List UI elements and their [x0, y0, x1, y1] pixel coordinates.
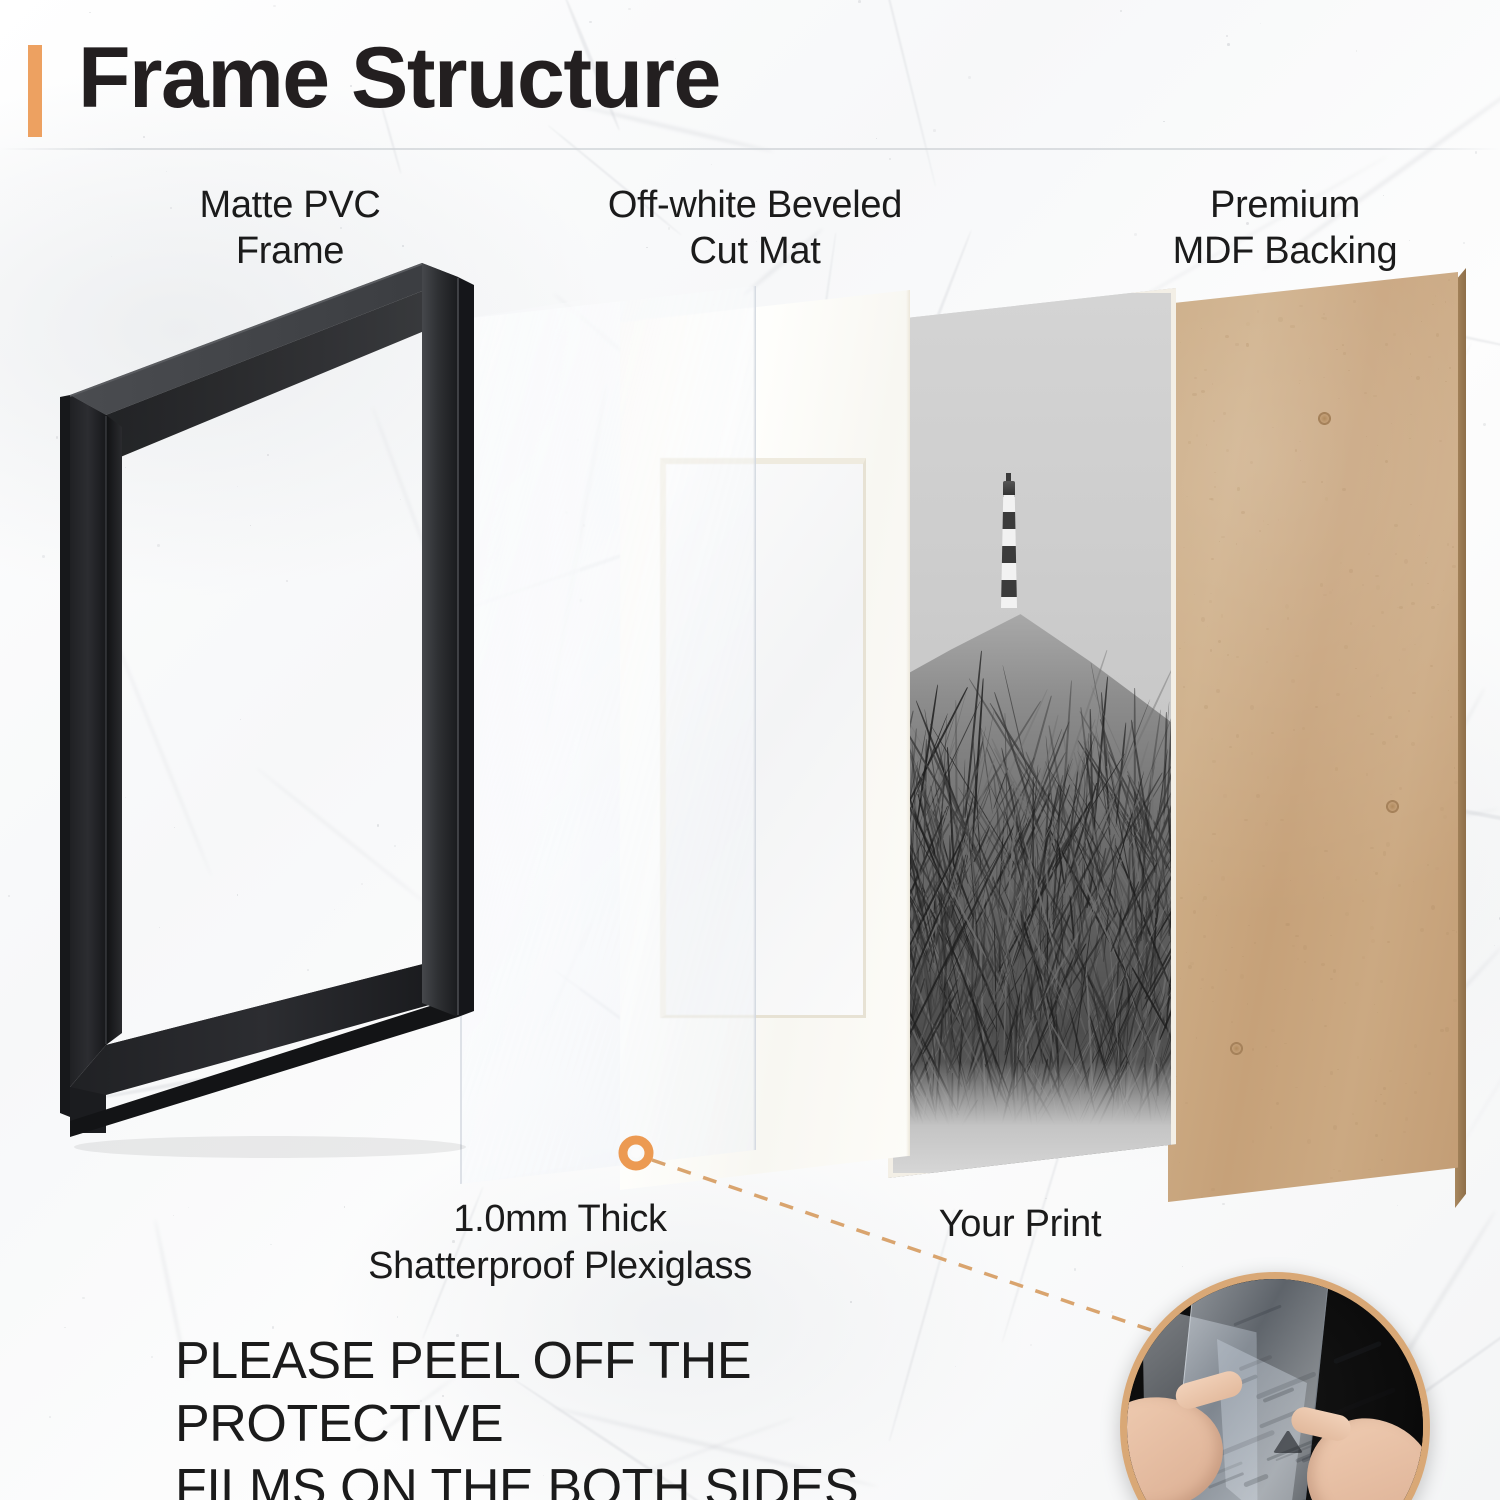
mdf-fleck	[1278, 1197, 1279, 1198]
mdf-fleck	[1445, 301, 1446, 303]
mdf-fleck	[1272, 427, 1273, 428]
mdf-fleck	[1278, 317, 1282, 322]
mdf-fleck	[1201, 328, 1202, 329]
mdf-fleck	[1399, 659, 1400, 661]
mdf-fleck	[1240, 974, 1244, 979]
mdf-fleck	[1377, 445, 1378, 446]
mdf-fleck	[1373, 871, 1374, 872]
peel-notice-prefix: FILMS ON THE	[175, 1459, 547, 1500]
mdf-fleck	[1242, 956, 1244, 957]
mdf-fleck	[1271, 1029, 1275, 1032]
mdf-fleck	[1389, 1070, 1392, 1072]
mdf-fleck	[1295, 449, 1297, 451]
mdf-fleck	[1355, 668, 1357, 670]
mdf-fleck	[1453, 999, 1457, 1002]
mdf-fleck	[1216, 689, 1220, 693]
mdf-fleck	[1285, 604, 1289, 609]
mdf-knot-icon	[1318, 412, 1331, 425]
film-logo-triangle	[1273, 1429, 1303, 1453]
mdf-fleck	[1416, 376, 1420, 380]
mdf-fleck	[1307, 1139, 1311, 1144]
mdf-fleck	[1201, 617, 1205, 622]
mdf-knot-icon	[1230, 1042, 1243, 1055]
frame-body	[60, 263, 474, 1137]
mdf-fleck	[1290, 325, 1294, 327]
mdf-fleck	[1299, 383, 1300, 384]
mdf-fleck	[1276, 1065, 1278, 1067]
mdf-fleck	[1270, 1126, 1272, 1129]
mdf-fleck	[1244, 819, 1247, 821]
mdf-fleck	[1385, 343, 1388, 346]
mdf-fleck	[1376, 674, 1380, 678]
mdf-fleck	[1338, 398, 1340, 399]
mdf-fleck	[1214, 486, 1216, 487]
infographic-canvas: Frame Structure Matte PVC Frame Off-whit…	[0, 0, 1500, 1500]
photo-sand	[888, 1062, 1176, 1178]
mdf-fleck	[1435, 867, 1439, 870]
mdf-fleck	[1355, 982, 1358, 986]
film-streak	[1239, 1355, 1273, 1371]
mdf-fleck	[1204, 705, 1208, 709]
mdf-fleck	[1422, 1192, 1425, 1196]
plexiglass-sheen	[460, 286, 620, 1184]
mdf-fleck	[1292, 945, 1295, 948]
mdf-fleck	[1431, 716, 1433, 718]
mdf-fleck	[1236, 656, 1239, 658]
mdf-fleck	[1370, 847, 1374, 850]
mdf-fleck	[1388, 716, 1392, 720]
mdf-fleck	[1428, 1072, 1430, 1075]
mdf-fleck	[1219, 541, 1220, 542]
mdf-fleck	[1337, 1069, 1339, 1070]
mdf-fleck	[1383, 1102, 1386, 1105]
mdf-fleck	[1393, 333, 1396, 336]
mdf-fleck	[1210, 649, 1212, 651]
mdf-fleck	[1447, 543, 1449, 546]
mdf-fleck	[1357, 1056, 1360, 1059]
mdf-fleck	[1209, 600, 1212, 603]
label-plexi-line2: Shatterproof Plexiglass	[368, 1245, 752, 1287]
mdf-fleck	[1437, 604, 1439, 605]
mdf-fleck	[1235, 343, 1238, 346]
mdf-fleck	[1377, 1012, 1378, 1013]
both-sides-highlight-group: BOTH SIDES	[547, 1457, 858, 1500]
mdf-fleck	[1210, 593, 1213, 595]
mdf-fleck	[1399, 787, 1403, 790]
mdf-fleck	[1188, 965, 1192, 970]
mdf-fleck	[1203, 896, 1207, 900]
mdf-fleck	[1427, 864, 1429, 866]
mdf-fleck	[1409, 438, 1411, 439]
mdf-fleck	[1178, 301, 1179, 302]
mdf-fleck	[1256, 794, 1260, 798]
mdf-fleck	[1267, 820, 1268, 821]
mdf-fleck	[1324, 850, 1328, 853]
mdf-fleck	[1428, 356, 1431, 358]
mdf-fleck	[1194, 377, 1197, 379]
mdf-fleck	[1386, 842, 1390, 847]
mdf-fleck	[1449, 367, 1451, 369]
mdf-fleck	[1211, 860, 1213, 863]
mdf-fleck	[1284, 1043, 1286, 1044]
mdf-fleck	[1446, 932, 1448, 935]
mdf-fleck	[1357, 715, 1360, 717]
both-sides-text: BOTH SIDES	[547, 1459, 858, 1500]
mdf-fleck	[1375, 1100, 1377, 1102]
mdf-fleck	[1266, 569, 1267, 570]
mdf-fleck	[1383, 1087, 1386, 1090]
mdf-fleck	[1349, 569, 1353, 572]
mdf-fleck	[1452, 546, 1454, 548]
mdf-fleck	[1212, 760, 1216, 763]
mdf-fleck	[1416, 1053, 1417, 1054]
mdf-fleck	[1412, 692, 1416, 695]
mdf-fleck	[1411, 376, 1412, 377]
mdf-fleck	[1231, 1021, 1233, 1023]
mat-right-edge	[906, 290, 910, 1190]
mdf-fleck	[1184, 642, 1185, 643]
mdf-fleck	[1410, 353, 1412, 355]
mdf-fleck	[1237, 487, 1240, 490]
mdf-fleck	[1355, 879, 1357, 881]
mdf-fleck	[1207, 626, 1208, 627]
mdf-fleck	[1324, 1086, 1326, 1087]
mdf-fleck	[1180, 342, 1181, 343]
mdf-fleck	[1440, 807, 1443, 811]
mdf-fleck	[1251, 752, 1254, 755]
mdf-fleck	[1299, 305, 1303, 307]
mdf-fleck	[1382, 741, 1386, 745]
mdf-fleck	[1450, 716, 1452, 719]
mdf-fleck	[1309, 358, 1310, 359]
mdf-fleck	[1302, 481, 1306, 484]
mdf-fleck	[1223, 794, 1226, 797]
mdf-grain-texture	[1168, 272, 1458, 1202]
mdf-fleck	[1186, 952, 1187, 953]
mdf-fleck	[1250, 705, 1254, 710]
layer-print-photo	[888, 288, 1176, 1178]
mdf-fleck	[1399, 606, 1403, 609]
mdf-fleck	[1213, 420, 1215, 422]
mdf-fleck	[1343, 352, 1345, 355]
mdf-fleck	[1362, 900, 1364, 902]
mdf-fleck	[1372, 625, 1376, 627]
mdf-fleck	[1421, 321, 1422, 322]
film-peel-inset-photo	[1120, 1272, 1430, 1500]
mdf-fleck	[1252, 1048, 1255, 1051]
mdf-fleck	[1257, 310, 1259, 312]
mdf-fleck	[1438, 368, 1439, 370]
mdf-fleck	[1211, 498, 1214, 501]
mdf-fleck	[1336, 876, 1340, 880]
mdf-fleck	[1342, 488, 1346, 491]
mdf-fleck	[1214, 472, 1215, 473]
mdf-fleck	[1366, 436, 1367, 437]
mdf-fleck	[1342, 344, 1345, 346]
mdf-fleck	[1411, 583, 1413, 586]
mdf-fleck	[1370, 926, 1373, 930]
mdf-fleck	[1211, 1188, 1215, 1192]
mdf-fleck	[1324, 1025, 1327, 1028]
mdf-fleck	[1445, 1027, 1449, 1031]
mdf-fleck	[1194, 594, 1195, 595]
mdf-fleck	[1344, 1002, 1346, 1004]
mdf-fleck	[1227, 1197, 1229, 1198]
mdf-fleck	[1297, 958, 1299, 959]
mdf-fleck	[1254, 942, 1257, 944]
mdf-fleck	[1352, 1113, 1354, 1115]
mdf-fleck	[1381, 687, 1384, 689]
mdf-fleck	[1299, 380, 1301, 381]
mdf-fleck	[1246, 322, 1250, 326]
mdf-fleck	[1333, 969, 1337, 973]
mdf-fleck	[1445, 381, 1448, 383]
mdf-fleck	[1185, 1102, 1188, 1104]
mdf-fleck	[1405, 1117, 1408, 1121]
mdf-fleck	[1330, 1071, 1334, 1074]
mdf-fleck	[1404, 559, 1408, 565]
mdf-fleck	[1374, 1004, 1375, 1005]
mdf-fleck	[1336, 349, 1337, 350]
film-streak	[1329, 1387, 1397, 1418]
mdf-fleck	[1259, 530, 1262, 532]
mdf-fleck	[1189, 1202, 1192, 1204]
mdf-fleck	[1212, 833, 1215, 835]
mdf-fleck	[1179, 648, 1180, 649]
mdf-fleck	[1236, 734, 1239, 737]
mdf-fleck	[1250, 461, 1253, 464]
mdf-fleck	[1452, 930, 1454, 931]
peel-notice: PLEASE PEEL OFF THE PROTECTIVE FILMS ON …	[175, 1330, 1075, 1500]
mdf-fleck	[1333, 1125, 1337, 1129]
mdf-fleck	[1430, 665, 1433, 667]
mdf-fleck	[1330, 935, 1331, 937]
mdf-fleck	[1375, 872, 1378, 874]
mdf-fleck	[1225, 335, 1229, 338]
mdf-fleck	[1287, 617, 1289, 619]
mdf-fleck	[1226, 449, 1229, 453]
mdf-fleck	[1186, 496, 1187, 497]
mdf-fleck	[1323, 377, 1325, 378]
mdf-fleck	[1439, 440, 1442, 442]
mdf-fleck	[1340, 562, 1342, 564]
mdf-fleck	[1338, 1170, 1341, 1171]
mdf-fleck	[1348, 370, 1350, 371]
mdf-fleck	[1380, 980, 1383, 983]
mdf-fleck	[1246, 343, 1249, 346]
mdf-fleck	[1425, 562, 1427, 564]
mdf-fleck	[1373, 395, 1377, 397]
mdf-fleck	[1330, 1177, 1332, 1180]
film-streak	[1233, 1305, 1281, 1327]
mdf-fleck	[1332, 589, 1334, 591]
mdf-fleck	[1196, 434, 1199, 437]
mdf-fleck	[1221, 614, 1224, 617]
mdf-fleck	[1201, 1196, 1203, 1198]
mdf-fleck	[1380, 1094, 1382, 1095]
mdf-fleck	[1183, 686, 1186, 689]
mdf-fleck	[1284, 989, 1285, 991]
mdf-fleck	[1378, 276, 1381, 279]
mdf-fleck	[1336, 693, 1340, 696]
film-streak	[1253, 1496, 1311, 1500]
mdf-fleck	[1262, 865, 1265, 868]
mdf-fleck	[1344, 645, 1347, 649]
mdf-fleck	[1290, 880, 1291, 882]
mdf-fleck	[1427, 583, 1429, 584]
mdf-fleck	[1355, 1122, 1357, 1125]
layer-plexiglass	[460, 286, 756, 1184]
mdf-fleck	[1456, 931, 1458, 933]
mdf-fleck	[1414, 1044, 1417, 1047]
mdf-fleck	[1370, 1059, 1371, 1060]
mdf-fleck	[1278, 519, 1279, 520]
mdf-fleck	[1452, 565, 1456, 568]
film-warning-logo-icon	[1273, 1429, 1303, 1453]
lighthouse-lamp	[1003, 481, 1015, 497]
mdf-fleck	[1398, 884, 1401, 887]
mdf-fleck	[1323, 594, 1327, 597]
mdf-fleck	[1315, 706, 1318, 709]
mdf-fleck	[1193, 910, 1196, 914]
mdf-fleck	[1413, 881, 1415, 882]
mdf-fleck	[1206, 444, 1208, 446]
mdf-fleck	[1410, 414, 1411, 415]
mdf-fleck	[1204, 369, 1207, 371]
mdf-fleck	[1265, 1046, 1266, 1048]
mdf-fleck	[1323, 313, 1325, 315]
mdf-fleck	[1323, 897, 1324, 899]
mdf-fleck	[1231, 947, 1233, 948]
mdf-fleck	[1261, 1089, 1262, 1090]
mdf-fleck	[1385, 460, 1388, 463]
mdf-fleck	[1223, 412, 1226, 414]
mdf-fleck	[1218, 640, 1221, 643]
mdf-fleck	[1329, 591, 1332, 594]
peel-notice-line2: FILMS ON THE BOTH SIDES	[175, 1457, 1075, 1500]
mdf-fleck	[1236, 543, 1237, 544]
mdf-fleck	[1381, 611, 1384, 614]
mdf-fleck	[1427, 557, 1428, 558]
mdf-fleck	[1286, 923, 1289, 926]
mdf-fleck	[1267, 524, 1269, 525]
mdf-fleck	[1221, 536, 1225, 538]
mdf-fleck	[1431, 606, 1435, 610]
mdf-fleck	[1271, 732, 1273, 734]
mdf-fleck	[1321, 963, 1325, 966]
mdf-fleck	[1212, 383, 1213, 384]
mdf-fleck	[1390, 794, 1392, 796]
mdf-fleck	[1435, 295, 1437, 297]
mdf-fleck	[1229, 746, 1233, 748]
mdf-fleck	[1375, 1134, 1377, 1137]
mdf-fleck	[1395, 553, 1397, 555]
film-streak	[1333, 1341, 1382, 1365]
mdf-fleck	[1411, 742, 1415, 746]
mdf-fleck	[1381, 1159, 1383, 1161]
mdf-fleck	[1366, 773, 1369, 775]
mdf-fleck	[1265, 822, 1268, 826]
mdf-fleck	[1183, 547, 1184, 548]
mdf-fleck	[1454, 767, 1455, 768]
mdf-fleck	[1414, 1091, 1417, 1094]
mdf-fleck	[1227, 654, 1229, 656]
mdf-fleck	[1280, 819, 1284, 821]
mdf-fleck	[1353, 300, 1355, 303]
mdf-fleck	[1216, 915, 1217, 916]
mdf-fleck	[1325, 497, 1328, 501]
mdf-fleck	[1443, 590, 1444, 591]
mdf-fleck	[1368, 1169, 1371, 1171]
mdf-fleck	[1266, 628, 1269, 631]
plexiglass-right-edge	[753, 286, 756, 1184]
mdf-fleck	[1266, 661, 1268, 664]
mdf-fleck	[1196, 1037, 1197, 1039]
label-your-print: Your Print	[855, 1203, 1185, 1246]
mdf-fleck	[1335, 767, 1339, 770]
mdf-fleck	[1295, 1087, 1298, 1088]
mdf-fleck	[1212, 1001, 1214, 1002]
mdf-fleck	[1276, 1102, 1279, 1105]
mdf-fleck	[1370, 696, 1371, 697]
mdf-fleck	[1410, 504, 1412, 505]
mdf-fleck	[1303, 945, 1307, 949]
mdf-fleck	[1391, 423, 1392, 424]
mdf-fleck	[1357, 1199, 1361, 1203]
mdf-fleck	[1448, 690, 1449, 691]
mdf-fleck	[1440, 1029, 1444, 1033]
label-plexiglass: 1.0mm Thick Shatterproof Plexiglass	[240, 1196, 880, 1290]
mdf-fleck	[1295, 655, 1298, 657]
mdf-fleck	[1345, 912, 1349, 916]
mdf-fleck	[1376, 585, 1380, 589]
mdf-fleck	[1320, 583, 1323, 586]
mdf-fleck	[1176, 275, 1179, 278]
mdf-fleck	[1364, 392, 1367, 394]
mdf-fleck	[1365, 1201, 1369, 1205]
mdf-fleck	[1203, 935, 1205, 938]
mdf-fleck	[1192, 393, 1196, 396]
grass-blade	[1114, 838, 1116, 918]
mdf-fleck	[1432, 304, 1433, 306]
mdf-fleck	[1302, 727, 1305, 730]
label-plexi-line1: 1.0mm Thick	[453, 1198, 667, 1240]
mdf-fleck	[1411, 602, 1415, 605]
mdf-fleck	[1360, 1196, 1363, 1198]
mdf-fleck	[1375, 575, 1379, 577]
mdf-fleck	[1402, 648, 1405, 651]
mdf-fleck	[1233, 720, 1235, 721]
mdf-fleck	[1201, 978, 1204, 981]
film-streak	[1243, 1473, 1269, 1487]
mdf-fleck	[1394, 524, 1398, 527]
mdf-knot-icon	[1386, 800, 1399, 813]
mdf-fleck	[1370, 733, 1374, 735]
mdf-fleck	[1395, 735, 1399, 738]
mdf-fleck	[1247, 1003, 1248, 1005]
film-streak	[1256, 1372, 1317, 1400]
mdf-fleck	[1267, 776, 1269, 779]
mdf-fleck	[1304, 961, 1306, 963]
mdf-fleck	[1201, 390, 1205, 393]
mdf-fleck	[1180, 978, 1181, 979]
mdf-fleck	[1414, 644, 1416, 645]
mdf-fleck	[1179, 1162, 1180, 1163]
mdf-fleck	[1188, 441, 1191, 443]
mdf-fleck	[1403, 1131, 1406, 1133]
mdf-fleck	[1211, 738, 1213, 740]
mdf-fleck	[1420, 928, 1424, 932]
